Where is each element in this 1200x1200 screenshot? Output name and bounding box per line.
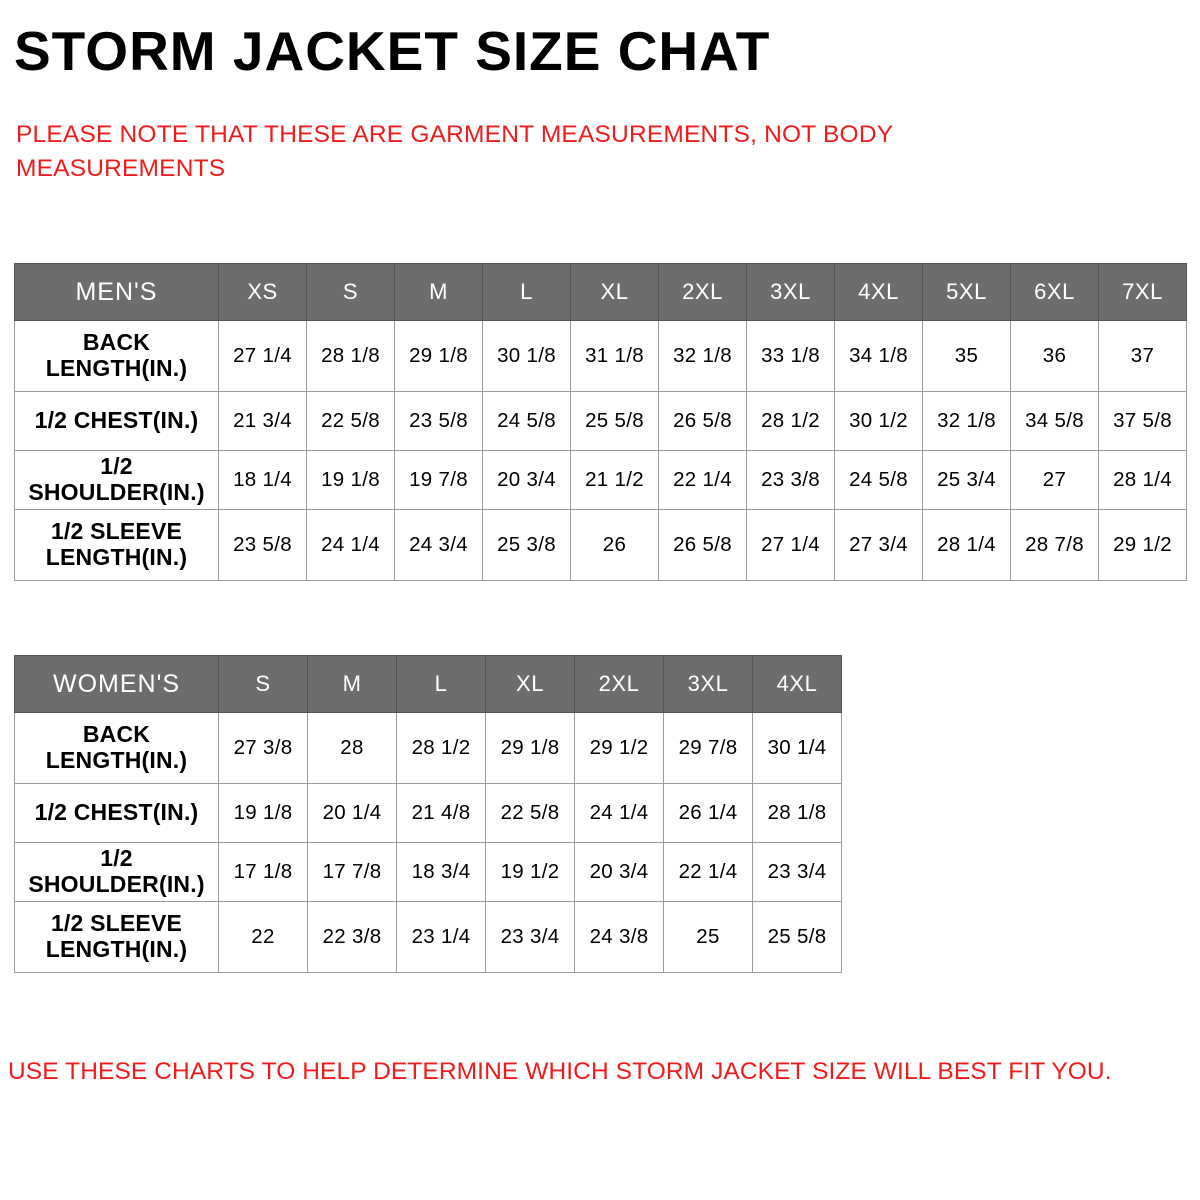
- measurement-cell: 25 5/8: [753, 902, 842, 973]
- measurement-cell: 24 3/4: [395, 510, 483, 581]
- measurement-cell: 19 1/8: [219, 784, 308, 843]
- column-header-xs: XS: [219, 264, 307, 321]
- measurement-cell: 23 5/8: [219, 510, 307, 581]
- measurement-cell: 28 1/4: [923, 510, 1011, 581]
- measurement-cell: 35: [923, 321, 1011, 392]
- mens-size-table: MEN'SXSSMLXL2XL3XL4XL5XL6XL7XL BACK LENG…: [14, 263, 1187, 581]
- mens-table-head: MEN'SXSSMLXL2XL3XL4XL5XL6XL7XL: [15, 264, 1187, 321]
- row-label: BACK LENGTH(IN.): [15, 713, 219, 784]
- measurement-cell: 17 1/8: [219, 843, 308, 902]
- womens-size-table: WOMEN'SSMLXL2XL3XL4XL BACK LENGTH(IN.)27…: [14, 655, 842, 973]
- measurement-cell: 27 1/4: [219, 321, 307, 392]
- measurement-cell: 28 1/8: [307, 321, 395, 392]
- column-header-m: M: [395, 264, 483, 321]
- measurement-cell: 25 3/8: [483, 510, 571, 581]
- measurement-cell: 20 1/4: [308, 784, 397, 843]
- mens-corner-label: MEN'S: [15, 264, 219, 321]
- measurement-cell: 23 3/4: [486, 902, 575, 973]
- measurement-cell: 20 3/4: [575, 843, 664, 902]
- measurement-cell: 19 1/8: [307, 451, 395, 510]
- measurement-cell: 28 1/2: [397, 713, 486, 784]
- measurement-cell: 30 1/4: [753, 713, 842, 784]
- womens-header-row: WOMEN'SSMLXL2XL3XL4XL: [15, 656, 842, 713]
- table-row: BACK LENGTH(IN.)27 1/428 1/829 1/830 1/8…: [15, 321, 1187, 392]
- measurement-cell: 19 7/8: [395, 451, 483, 510]
- table-row: 1/2 SLEEVE LENGTH(IN.)2222 3/823 1/423 3…: [15, 902, 842, 973]
- measurement-cell: 36: [1011, 321, 1099, 392]
- mens-header-row: MEN'SXSSMLXL2XL3XL4XL5XL6XL7XL: [15, 264, 1187, 321]
- measurement-cell: 20 3/4: [483, 451, 571, 510]
- measurement-cell: 27 1/4: [747, 510, 835, 581]
- measurement-cell: 28: [308, 713, 397, 784]
- measurement-cell: 18 3/4: [397, 843, 486, 902]
- measurement-cell: 23 5/8: [395, 392, 483, 451]
- measurement-cell: 22: [219, 902, 308, 973]
- measurement-cell: 28 1/2: [747, 392, 835, 451]
- measurement-cell: 31 1/8: [571, 321, 659, 392]
- column-header-7xl: 7XL: [1099, 264, 1187, 321]
- measurement-cell: 27: [1011, 451, 1099, 510]
- measurement-cell: 37: [1099, 321, 1187, 392]
- measurement-cell: 25 3/4: [923, 451, 1011, 510]
- measurement-cell: 34 1/8: [835, 321, 923, 392]
- column-header-6xl: 6XL: [1011, 264, 1099, 321]
- column-header-l: L: [483, 264, 571, 321]
- measurement-cell: 32 1/8: [659, 321, 747, 392]
- row-label: 1/2 CHEST(IN.): [15, 784, 219, 843]
- table-row: 1/2 SHOULDER(IN.)18 1/419 1/819 7/820 3/…: [15, 451, 1187, 510]
- table-row: 1/2 SLEEVE LENGTH(IN.)23 5/824 1/424 3/4…: [15, 510, 1187, 581]
- row-label: 1/2 SLEEVE LENGTH(IN.): [15, 510, 219, 581]
- measurement-cell: 29 1/2: [575, 713, 664, 784]
- measurement-cell: 29 1/8: [486, 713, 575, 784]
- row-label: BACK LENGTH(IN.): [15, 321, 219, 392]
- measurement-cell: 26: [571, 510, 659, 581]
- measurement-cell: 29 1/8: [395, 321, 483, 392]
- column-header-4xl: 4XL: [753, 656, 842, 713]
- column-header-s: S: [307, 264, 395, 321]
- column-header-3xl: 3XL: [664, 656, 753, 713]
- column-header-xl: XL: [571, 264, 659, 321]
- womens-table-head: WOMEN'SSMLXL2XL3XL4XL: [15, 656, 842, 713]
- column-header-m: M: [308, 656, 397, 713]
- measurement-cell: 17 7/8: [308, 843, 397, 902]
- measurement-cell: 30 1/2: [835, 392, 923, 451]
- measurement-cell: 23 3/8: [747, 451, 835, 510]
- womens-table-body: BACK LENGTH(IN.)27 3/82828 1/229 1/829 1…: [15, 713, 842, 973]
- measurement-cell: 24 5/8: [835, 451, 923, 510]
- measurement-cell: 22 1/4: [659, 451, 747, 510]
- measurement-cell: 29 7/8: [664, 713, 753, 784]
- measurement-cell: 21 4/8: [397, 784, 486, 843]
- measurement-cell: 18 1/4: [219, 451, 307, 510]
- table-row: 1/2 CHEST(IN.)21 3/422 5/823 5/824 5/825…: [15, 392, 1187, 451]
- measurement-cell: 26 5/8: [659, 510, 747, 581]
- column-header-s: S: [219, 656, 308, 713]
- measurement-cell: 22 5/8: [486, 784, 575, 843]
- row-label: 1/2 SHOULDER(IN.): [15, 843, 219, 902]
- measurement-cell: 28 7/8: [1011, 510, 1099, 581]
- measurement-cell: 24 5/8: [483, 392, 571, 451]
- measurement-cell: 32 1/8: [923, 392, 1011, 451]
- measurement-cell: 22 1/4: [664, 843, 753, 902]
- measurement-cell: 23 1/4: [397, 902, 486, 973]
- table-row: 1/2 SHOULDER(IN.)17 1/817 7/818 3/419 1/…: [15, 843, 842, 902]
- measurement-cell: 29 1/2: [1099, 510, 1187, 581]
- page-title: STORM JACKET SIZE CHAT: [14, 23, 770, 81]
- measurement-cell: 23 3/4: [753, 843, 842, 902]
- measurement-cell: 19 1/2: [486, 843, 575, 902]
- row-label: 1/2 SHOULDER(IN.): [15, 451, 219, 510]
- garment-measurement-note: PLEASE NOTE THAT THESE ARE GARMENT MEASU…: [16, 118, 976, 186]
- measurement-cell: 28 1/8: [753, 784, 842, 843]
- measurement-cell: 22 3/8: [308, 902, 397, 973]
- womens-corner-label: WOMEN'S: [15, 656, 219, 713]
- column-header-5xl: 5XL: [923, 264, 1011, 321]
- measurement-cell: 28 1/4: [1099, 451, 1187, 510]
- column-header-4xl: 4XL: [835, 264, 923, 321]
- measurement-cell: 33 1/8: [747, 321, 835, 392]
- measurement-cell: 24 1/4: [575, 784, 664, 843]
- measurement-cell: 30 1/8: [483, 321, 571, 392]
- table-row: 1/2 CHEST(IN.)19 1/820 1/421 4/822 5/824…: [15, 784, 842, 843]
- size-chart-page: STORM JACKET SIZE CHAT PLEASE NOTE THAT …: [0, 0, 1200, 1200]
- column-header-2xl: 2XL: [575, 656, 664, 713]
- fit-guidance-note: USE THESE CHARTS TO HELP DETERMINE WHICH…: [8, 1056, 1128, 1088]
- mens-table-body: BACK LENGTH(IN.)27 1/428 1/829 1/830 1/8…: [15, 321, 1187, 581]
- measurement-cell: 34 5/8: [1011, 392, 1099, 451]
- measurement-cell: 26 5/8: [659, 392, 747, 451]
- measurement-cell: 25 5/8: [571, 392, 659, 451]
- row-label: 1/2 CHEST(IN.): [15, 392, 219, 451]
- table-row: BACK LENGTH(IN.)27 3/82828 1/229 1/829 1…: [15, 713, 842, 784]
- column-header-xl: XL: [486, 656, 575, 713]
- measurement-cell: 25: [664, 902, 753, 973]
- measurement-cell: 22 5/8: [307, 392, 395, 451]
- row-label: 1/2 SLEEVE LENGTH(IN.): [15, 902, 219, 973]
- measurement-cell: 37 5/8: [1099, 392, 1187, 451]
- measurement-cell: 24 3/8: [575, 902, 664, 973]
- measurement-cell: 24 1/4: [307, 510, 395, 581]
- measurement-cell: 26 1/4: [664, 784, 753, 843]
- measurement-cell: 21 1/2: [571, 451, 659, 510]
- measurement-cell: 27 3/4: [835, 510, 923, 581]
- measurement-cell: 27 3/8: [219, 713, 308, 784]
- column-header-2xl: 2XL: [659, 264, 747, 321]
- column-header-l: L: [397, 656, 486, 713]
- measurement-cell: 21 3/4: [219, 392, 307, 451]
- column-header-3xl: 3XL: [747, 264, 835, 321]
